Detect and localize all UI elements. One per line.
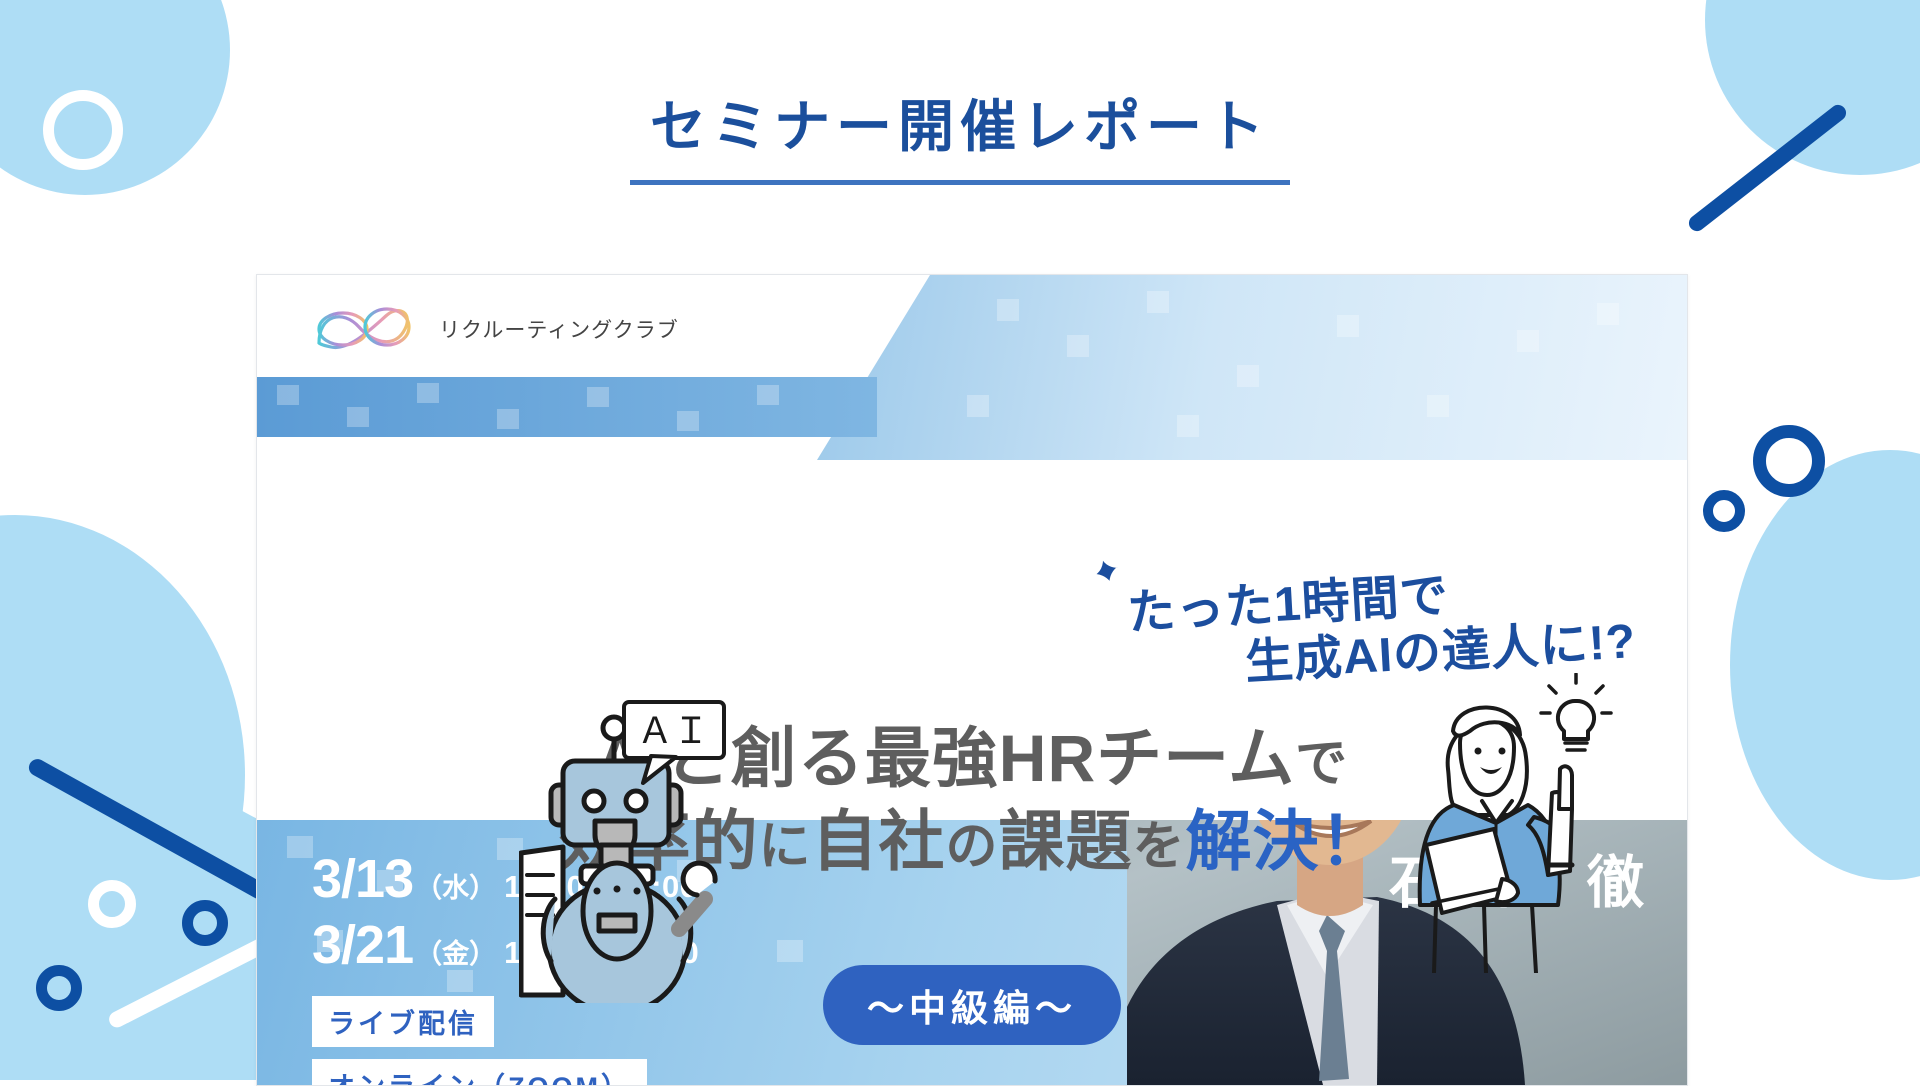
brand-logo-text: リクルーティングクラブ: [439, 314, 679, 344]
ai-bubble-label: ＡＩ: [637, 710, 709, 751]
seminar-banner-card[interactable]: リクルーティングクラブ たった1時間で 生成AIの達人に!? ＡＩ: [256, 274, 1688, 1086]
sparkle-icon: [1085, 549, 1128, 592]
decor-ring-right-small: [1703, 490, 1745, 532]
mosaic-panel-top: [817, 275, 1687, 460]
format-tag-online: オンライン（ZOOM）: [312, 1059, 647, 1085]
decor-ring-blue-bottom-1: [182, 900, 228, 946]
decor-blob-right: [1730, 450, 1920, 880]
woman-with-lightbulb-illustration: [1408, 673, 1623, 973]
decor-ring-blue-bottom-2: [36, 965, 82, 1011]
ai-speech-bubble: ＡＩ: [621, 699, 729, 796]
headline-part-4: の: [945, 818, 998, 876]
headline-tail-1: で: [1295, 735, 1348, 793]
infinity-loop-logo-icon: [313, 303, 423, 355]
mosaic-strip-left: [257, 377, 877, 437]
headline-part-2: に: [758, 818, 811, 876]
title-underline: [630, 180, 1290, 185]
headline-part-5: 課題: [999, 804, 1133, 878]
level-badge: 〜中級編〜: [823, 965, 1121, 1045]
headline-accent: 解決！: [1186, 804, 1387, 878]
format-tag-live: ライブ配信: [312, 996, 494, 1047]
format-tag-list: ライブ配信 オンライン（ZOOM）: [312, 996, 647, 1085]
headline-part-3: 自社: [811, 804, 945, 878]
schedule-date: 3/21: [312, 914, 413, 976]
decor-ring-white-bottom: [88, 880, 136, 928]
page-title-block: セミナー開催レポート: [0, 96, 1920, 185]
catch-copy-block: たった1時間で 生成AIの達人に!?: [1127, 575, 1636, 679]
schedule-dow: （金）: [415, 932, 496, 971]
headline-part-6: を: [1133, 818, 1186, 876]
brand-logo[interactable]: リクルーティングクラブ: [313, 303, 679, 355]
decor-ring-right-large: [1753, 425, 1825, 497]
page-title: セミナー開催レポート: [650, 96, 1270, 158]
